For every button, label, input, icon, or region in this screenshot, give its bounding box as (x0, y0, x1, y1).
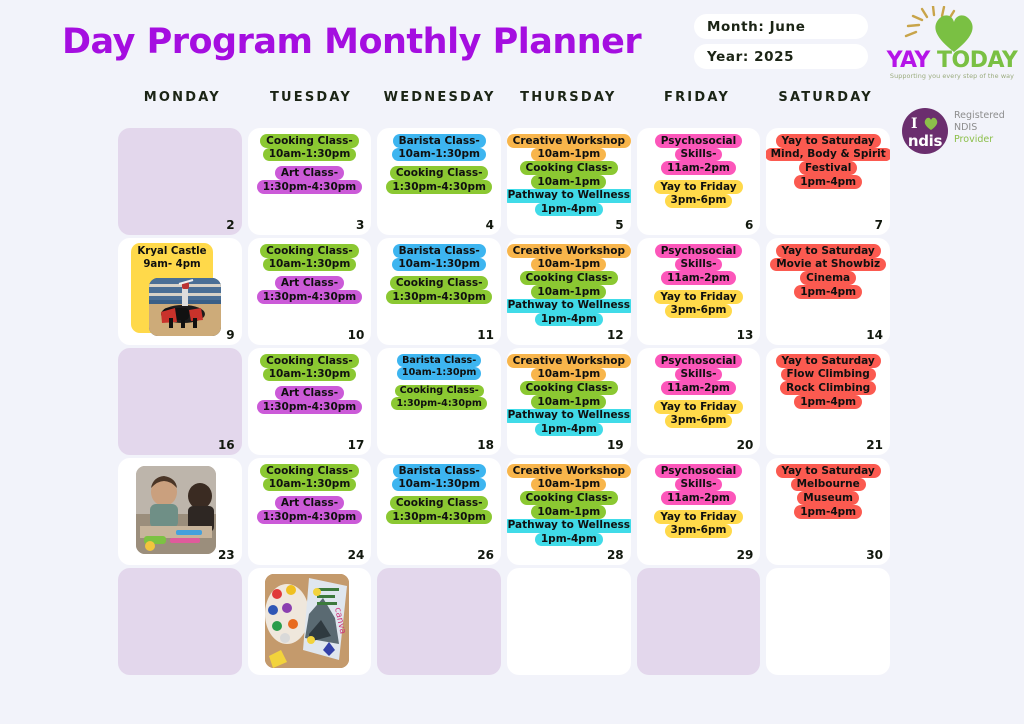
event-line: 3pm-6pm (665, 524, 733, 538)
event-line: 11am-2pm (661, 381, 736, 395)
event-line: Skills- (675, 478, 723, 492)
calendar-grid: 2Cooking Class-10am-1:30pmArt Class-1:30… (118, 127, 890, 679)
ndis-heart-icon (923, 116, 939, 131)
event-line: 10am-1pm (531, 175, 606, 189)
event-line: Cooking Class- (520, 271, 619, 285)
event-line: Skills- (675, 368, 723, 382)
event-line: Cooking Class- (520, 491, 619, 505)
event-line: 1pm-4pm (794, 395, 862, 409)
logo-tagline: Supporting you every step of the way (886, 72, 1018, 80)
day-number: 6 (745, 218, 753, 232)
day-events: Creative Workshop10am-1pmCooking Class-1… (507, 464, 631, 546)
day-events: PsychosocialSkills-11am-2pmYay to Friday… (637, 464, 761, 538)
event-line: Cooking Class- (260, 134, 359, 148)
event-line: Melbourne (791, 478, 866, 492)
event-line: Psychosocial (655, 244, 743, 258)
ndis-registered-badge: I ndis Registered NDIS Provider (902, 106, 1020, 156)
day-events: Creative Workshop10am-1pmCooking Class-1… (507, 244, 631, 326)
day-number: 18 (477, 438, 494, 452)
event-line: 10am-1:30pm (392, 258, 486, 272)
event-badge[interactable]: Cooking Class-10am-1:30pm (260, 354, 359, 381)
event-line: Barista Class- (393, 464, 486, 478)
paint-palette-image: canva (265, 574, 349, 668)
kryal-castle-image (149, 278, 221, 336)
event-line: Yay to Saturday (776, 464, 881, 478)
event-line: Yay to Friday (654, 180, 742, 194)
day-number: 14 (866, 328, 883, 342)
event-line: 10am-1pm (531, 285, 606, 299)
day-number: 29 (737, 548, 754, 562)
event-badge[interactable]: Cooking Class-10am-1pm (520, 161, 619, 188)
event-badge[interactable]: Yay to Friday3pm-6pm (654, 510, 742, 537)
event-badge[interactable]: Cooking Class-10am-1:30pm (260, 244, 359, 271)
craft-activity-photo (136, 466, 216, 554)
event-line: Creative Workshop (507, 464, 631, 478)
day-events: Barista Class-10am-1:30pmCooking Class-1… (377, 244, 501, 304)
day-number: 16 (218, 438, 235, 452)
day-number: 30 (866, 548, 883, 562)
event-line: Cooking Class- (390, 276, 489, 290)
day-number: 17 (348, 438, 365, 452)
event-badge[interactable]: Creative Workshop10am-1pm (507, 244, 631, 271)
day-number: 13 (737, 328, 754, 342)
event-line: 3pm-6pm (665, 194, 733, 208)
event-line: 11am-2pm (661, 491, 736, 505)
event-badge[interactable]: Creative Workshop10am-1pm (507, 464, 631, 491)
kryal-castle-event[interactable]: Kryal Castle9am- 4pm (131, 243, 213, 333)
calendar-day-cell[interactable]: Creative Workshop10am-1pmCooking Class-1… (507, 348, 631, 455)
day-number: 5 (615, 218, 623, 232)
event-line: Yay to Saturday (776, 354, 881, 368)
calendar-day-cell[interactable]: 16 (118, 348, 242, 455)
event-line: Cooking Class- (390, 496, 489, 510)
event-badge[interactable]: Cooking Class-10am-1:30pm (260, 134, 359, 161)
calendar-day-cell[interactable] (377, 568, 501, 675)
event-line: Yay to Saturday (776, 244, 881, 258)
event-line: 10am-1:30pm (263, 258, 357, 272)
day-number: 9 (226, 328, 234, 342)
day-number: 11 (477, 328, 494, 342)
day-number: 7 (875, 218, 883, 232)
event-line: Skills- (675, 258, 723, 272)
event-line: 1:30pm-4:30pm (257, 400, 363, 414)
event-line: 1:30pm-4:30pm (391, 397, 486, 410)
event-badge[interactable]: Yay to Friday3pm-6pm (654, 290, 742, 317)
calendar-day-cell[interactable]: 23 (118, 458, 242, 565)
event-line: Pathway to Wellness (507, 299, 631, 313)
day-number: 10 (348, 328, 365, 342)
event-line: 10am-1:30pm (392, 478, 486, 492)
calendar-day-cell[interactable] (637, 568, 761, 675)
event-badge[interactable]: Yay to SaturdayFlow ClimbingRock Climbin… (776, 354, 881, 409)
ndis-i-letter: I (911, 116, 918, 132)
paint-palette-photo: canva (265, 574, 349, 668)
weekday-header-row: MONDAYTUESDAYWEDNESDAYTHURSDAYFRIDAYSATU… (118, 90, 890, 116)
event-line: 1:30pm-4:30pm (257, 510, 363, 524)
event-line: Yay to Friday (654, 510, 742, 524)
event-line: 10am-1:30pm (263, 478, 357, 492)
planner-page: Day Program Monthly Planner Month: June … (0, 0, 1024, 724)
event-line: Cooking Class- (520, 381, 619, 395)
event-badge[interactable]: Pathway to Wellness1pm-4pm (507, 299, 631, 326)
event-badge[interactable]: Yay to SaturdayMind, Body & SpiritFestiv… (766, 134, 890, 189)
calendar-day-cell[interactable]: Barista Class-10am-1:30pmCooking Class-1… (377, 128, 501, 235)
event-badge[interactable]: Yay to SaturdayMovie at ShowbizCinema1pm… (770, 244, 886, 299)
craft-activity-image (136, 466, 216, 554)
event-line: Art Class- (275, 496, 344, 510)
calendar-day-cell[interactable]: PsychosocialSkills-11am-2pmYay to Friday… (637, 128, 761, 235)
event-line: 1:30pm-4:30pm (386, 510, 492, 524)
ndis-line-provider: Provider (954, 134, 1005, 146)
calendar-day-cell[interactable]: PsychosocialSkills-11am-2pmYay to Friday… (637, 238, 761, 345)
event-line: 1pm-4pm (794, 505, 862, 519)
event-badge[interactable]: Art Class-1:30pm-4:30pm (257, 166, 363, 193)
day-number: 12 (607, 328, 624, 342)
event-line: 10am-1pm (531, 368, 606, 382)
day-events: PsychosocialSkills-11am-2pmYay to Friday… (637, 244, 761, 318)
event-line: 1pm-4pm (794, 175, 862, 189)
event-badge[interactable]: Cooking Class-1:30pm-4:30pm (386, 276, 492, 303)
calendar-day-cell[interactable]: Yay to SaturdayMind, Body & SpiritFestiv… (766, 128, 890, 235)
event-badge[interactable]: Yay to Friday3pm-6pm (654, 400, 742, 427)
calendar-day-cell[interactable]: PsychosocialSkills-11am-2pmYay to Friday… (637, 458, 761, 565)
page-header: Day Program Monthly Planner Month: June … (0, 0, 1024, 88)
event-line: Psychosocial (655, 464, 743, 478)
event-badge[interactable]: Barista Class-10am-1:30pm (392, 464, 486, 491)
calendar-day-cell[interactable]: Kryal Castle9am- 4pm 9 (118, 238, 242, 345)
day-number: 23 (218, 548, 235, 562)
day-number: 26 (477, 548, 494, 562)
event-line: Museum (797, 491, 859, 505)
event-badge[interactable]: Cooking Class-1:30pm-4:30pm (386, 496, 492, 523)
ndis-line-ndis: NDIS (954, 122, 1005, 134)
event-line: Pathway to Wellness (507, 519, 631, 533)
event-badge[interactable]: Creative Workshop10am-1pm (507, 354, 631, 381)
event-line: Cinema (800, 271, 856, 285)
event-line: Skills- (675, 148, 723, 162)
weekday-header-wednesday: WEDNESDAY (375, 90, 504, 116)
event-line: 3pm-6pm (665, 414, 733, 428)
day-events: Barista Class-10am-1:30pmCooking Class-1… (377, 464, 501, 524)
logo-wordmark: YAY TODAY (886, 50, 1018, 72)
event-line: 10am-1pm (531, 505, 606, 519)
event-badge[interactable]: Cooking Class-10am-1pm (520, 491, 619, 518)
event-line: Barista Class- (393, 244, 486, 258)
day-events: Yay to SaturdayFlow ClimbingRock Climbin… (766, 354, 890, 409)
brand-logo: YAY TODAY Supporting you every step of t… (886, 6, 1018, 98)
event-line: 11am-2pm (661, 161, 736, 175)
event-line: 10am-1:30pm (392, 148, 486, 162)
event-line: Rock Climbing (780, 381, 876, 395)
weekday-header-tuesday: TUESDAY (247, 90, 376, 116)
event-line: Art Class- (275, 166, 344, 180)
weekday-header-thursday: THURSDAY (504, 90, 633, 116)
event-line: Creative Workshop (507, 354, 631, 368)
event-badge[interactable]: Cooking Class-1:30pm-4:30pm (386, 166, 492, 193)
weekday-header-monday: MONDAY (118, 90, 247, 116)
day-number: 19 (607, 438, 624, 452)
day-events: Cooking Class-10am-1:30pmArt Class-1:30p… (248, 354, 372, 414)
event-line: 1pm-4pm (535, 533, 603, 547)
calendar-day-cell[interactable]: Cooking Class-10am-1:30pmArt Class-1:30p… (248, 458, 372, 565)
event-line: Cooking Class- (260, 464, 359, 478)
event-line: 10am-1:30pm (263, 368, 357, 382)
calendar-day-cell[interactable]: 2 (118, 128, 242, 235)
event-line: Pathway to Wellness (507, 189, 631, 203)
event-badge[interactable]: Pathway to Wellness1pm-4pm (507, 519, 631, 546)
event-badge[interactable]: PsychosocialSkills-11am-2pm (655, 244, 743, 285)
day-number: 20 (737, 438, 754, 452)
calendar-day-cell[interactable] (507, 568, 631, 675)
event-line: 10am-1pm (531, 478, 606, 492)
ndis-provider-text: Registered NDIS Provider (954, 110, 1005, 146)
calendar-day-cell[interactable]: Barista Class-10am-1:30pmCooking Class-1… (377, 238, 501, 345)
event-line: 1pm-4pm (535, 313, 603, 327)
weekday-header-friday: FRIDAY (633, 90, 762, 116)
event-line: Barista Class- (397, 354, 481, 367)
event-badge[interactable]: PsychosocialSkills-11am-2pm (655, 134, 743, 175)
day-number: 21 (866, 438, 883, 452)
event-badge[interactable]: PsychosocialSkills-11am-2pm (655, 354, 743, 395)
event-line: 1:30pm-4:30pm (386, 180, 492, 194)
event-line: Movie at Showbiz (770, 258, 886, 272)
calendar-day-cell[interactable]: Creative Workshop10am-1pmCooking Class-1… (507, 458, 631, 565)
day-number: 28 (607, 548, 624, 562)
day-events: Creative Workshop10am-1pmCooking Class-1… (507, 134, 631, 216)
event-line: 1:30pm-4:30pm (386, 290, 492, 304)
event-line: 10am-1:30pm (263, 148, 357, 162)
calendar-day-cell[interactable]: Yay to SaturdayFlow ClimbingRock Climbin… (766, 348, 890, 455)
day-events: Barista Class-10am-1:30pmCooking Class-1… (377, 134, 501, 194)
event-badge[interactable]: Yay to SaturdayMelbourneMuseum1pm-4pm (776, 464, 881, 519)
calendar-day-cell[interactable] (118, 568, 242, 675)
weekday-header-saturday: SATURDAY (761, 90, 890, 116)
event-line: Cooking Class- (520, 161, 619, 175)
calendar-day-cell[interactable] (766, 568, 890, 675)
calendar-day-cell[interactable]: Yay to SaturdayMelbourneMuseum1pm-4pm30 (766, 458, 890, 565)
logo-yay-text: YAY (887, 48, 930, 73)
day-events: Cooking Class-10am-1:30pmArt Class-1:30p… (248, 244, 372, 304)
calendar-day-cell[interactable]: Cooking Class-10am-1:30pmArt Class-1:30p… (248, 348, 372, 455)
event-line: 3pm-6pm (665, 304, 733, 318)
year-field[interactable]: Year: 2025 (694, 44, 868, 69)
event-badge[interactable]: Art Class-1:30pm-4:30pm (257, 386, 363, 413)
day-events: Yay to SaturdayMovie at ShowbizCinema1pm… (766, 244, 890, 299)
event-line: Cooking Class- (260, 244, 359, 258)
ndis-line-registered: Registered (954, 110, 1005, 122)
event-line: Yay to Friday (654, 400, 742, 414)
kryal-castle-caption: Kryal Castle9am- 4pm (131, 246, 213, 272)
event-badge[interactable]: Cooking Class-10am-1:30pm (260, 464, 359, 491)
event-line: Creative Workshop (507, 134, 631, 148)
event-line: Psychosocial (655, 354, 743, 368)
day-events: PsychosocialSkills-11am-2pmYay to Friday… (637, 134, 761, 208)
event-line: 1:30pm-4:30pm (257, 290, 363, 304)
day-events: Creative Workshop10am-1pmCooking Class-1… (507, 354, 631, 436)
day-events: Barista Class-10am-1:30pmCooking Class-1… (377, 354, 501, 410)
event-line: Pathway to Wellness (507, 409, 631, 423)
event-line: 10am-1pm (531, 148, 606, 162)
ndis-circle: I ndis (902, 108, 948, 154)
event-line: Art Class- (275, 386, 344, 400)
calendar-day-cell[interactable]: PsychosocialSkills-11am-2pmYay to Friday… (637, 348, 761, 455)
event-badge[interactable]: Cooking Class-10am-1pm (520, 381, 619, 408)
event-line: Barista Class- (393, 134, 486, 148)
calendar-day-cell[interactable]: Cooking Class-10am-1:30pmArt Class-1:30p… (248, 128, 372, 235)
event-line: Psychosocial (655, 134, 743, 148)
event-line: 1pm-4pm (794, 285, 862, 299)
event-badge[interactable]: Creative Workshop10am-1pm (507, 134, 631, 161)
event-line: Festival (799, 161, 857, 175)
event-badge[interactable]: Cooking Class-1:30pm-4:30pm (391, 385, 486, 411)
event-badge[interactable]: PsychosocialSkills-11am-2pm (655, 464, 743, 505)
calendar-day-cell[interactable]: Yay to SaturdayMovie at ShowbizCinema1pm… (766, 238, 890, 345)
ndis-wordmark: ndis (902, 132, 948, 150)
calendar-day-cell[interactable]: Creative Workshop10am-1pmCooking Class-1… (507, 238, 631, 345)
month-field[interactable]: Month: June (694, 14, 868, 39)
event-badge[interactable]: Art Class-1:30pm-4:30pm (257, 276, 363, 303)
event-line: Mind, Body & Spirit (766, 148, 890, 162)
page-title: Day Program Monthly Planner (62, 22, 641, 62)
calendar-day-cell[interactable]: Barista Class-10am-1:30pmCooking Class-1… (377, 458, 501, 565)
event-badge[interactable]: Barista Class-10am-1:30pm (392, 244, 486, 271)
day-events: Yay to SaturdayMelbourneMuseum1pm-4pm (766, 464, 890, 519)
event-badge[interactable]: Pathway to Wellness1pm-4pm (507, 189, 631, 216)
day-number: 24 (348, 548, 365, 562)
calendar-day-cell[interactable]: Creative Workshop10am-1pmCooking Class-1… (507, 128, 631, 235)
day-number: 3 (356, 218, 364, 232)
kryal-castle-photo (149, 278, 221, 336)
event-line: Yay to Saturday (776, 134, 881, 148)
event-line: Cooking Class- (395, 385, 484, 398)
event-badge[interactable]: Pathway to Wellness1pm-4pm (507, 409, 631, 436)
event-line: Cooking Class- (390, 166, 489, 180)
event-badge[interactable]: Barista Class-10am-1:30pm (392, 134, 486, 161)
event-line: 11am-2pm (661, 271, 736, 285)
day-events: Cooking Class-10am-1:30pmArt Class-1:30p… (248, 134, 372, 194)
event-line: Yay to Friday (654, 290, 742, 304)
day-number: 4 (486, 218, 494, 232)
event-line: 10am-1pm (531, 395, 606, 409)
day-number: 2 (226, 218, 234, 232)
event-line: Creative Workshop (507, 244, 631, 258)
event-badge[interactable]: Yay to Friday3pm-6pm (654, 180, 742, 207)
event-line: 1pm-4pm (535, 203, 603, 217)
event-line: 1pm-4pm (535, 423, 603, 437)
event-badge[interactable]: Cooking Class-10am-1pm (520, 271, 619, 298)
calendar-day-cell[interactable]: Barista Class-10am-1:30pmCooking Class-1… (377, 348, 501, 455)
event-line: Flow Climbing (781, 368, 876, 382)
event-line: 1:30pm-4:30pm (257, 180, 363, 194)
event-badge[interactable]: Barista Class-10am-1:30pm (397, 354, 482, 380)
day-events: PsychosocialSkills-11am-2pmYay to Friday… (637, 354, 761, 428)
logo-today-text: TODAY (930, 48, 1017, 73)
event-badge[interactable]: Art Class-1:30pm-4:30pm (257, 496, 363, 523)
day-events: Yay to SaturdayMind, Body & SpiritFestiv… (766, 134, 890, 189)
calendar-day-cell[interactable]: canva (248, 568, 372, 675)
event-line: 10am-1:30pm (397, 367, 482, 380)
day-events: Cooking Class-10am-1:30pmArt Class-1:30p… (248, 464, 372, 524)
calendar-day-cell[interactable]: Cooking Class-10am-1:30pmArt Class-1:30p… (248, 238, 372, 345)
event-line: 10am-1pm (531, 258, 606, 272)
event-line: Art Class- (275, 276, 344, 290)
event-line: Cooking Class- (260, 354, 359, 368)
